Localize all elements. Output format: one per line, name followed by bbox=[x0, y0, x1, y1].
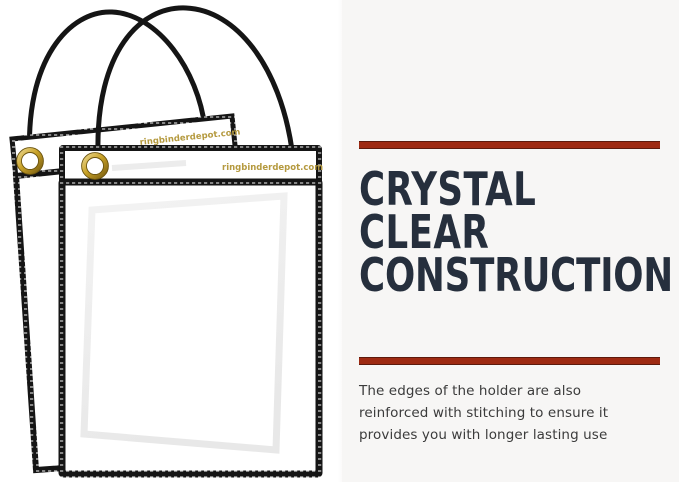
headline-line-3: CONSTRUCTION bbox=[359, 254, 634, 297]
page-title: CRYSTAL CLEAR CONSTRUCTION bbox=[359, 168, 634, 297]
shop-ticket-holder-illustration: ringbinderdepot.com bbox=[0, 0, 340, 482]
product-feature-graphic: ringbinderdepot.com bbox=[0, 0, 679, 482]
front-brand-label: ringbinderdepot.com bbox=[222, 163, 323, 173]
divider-rule-top bbox=[359, 141, 660, 149]
body-line-3: provides you with longer lasting use bbox=[359, 424, 664, 446]
body-line-1: The edges of the holder are also bbox=[359, 380, 664, 402]
body-line-2: reinforced with stitching to ensure it bbox=[359, 402, 664, 424]
text-content-panel: CRYSTAL CLEAR CONSTRUCTION The edges of … bbox=[340, 0, 679, 482]
description-text: The edges of the holder are also reinfor… bbox=[359, 380, 664, 446]
product-image-panel: ringbinderdepot.com bbox=[0, 0, 340, 482]
divider-rule-bottom bbox=[359, 357, 660, 365]
